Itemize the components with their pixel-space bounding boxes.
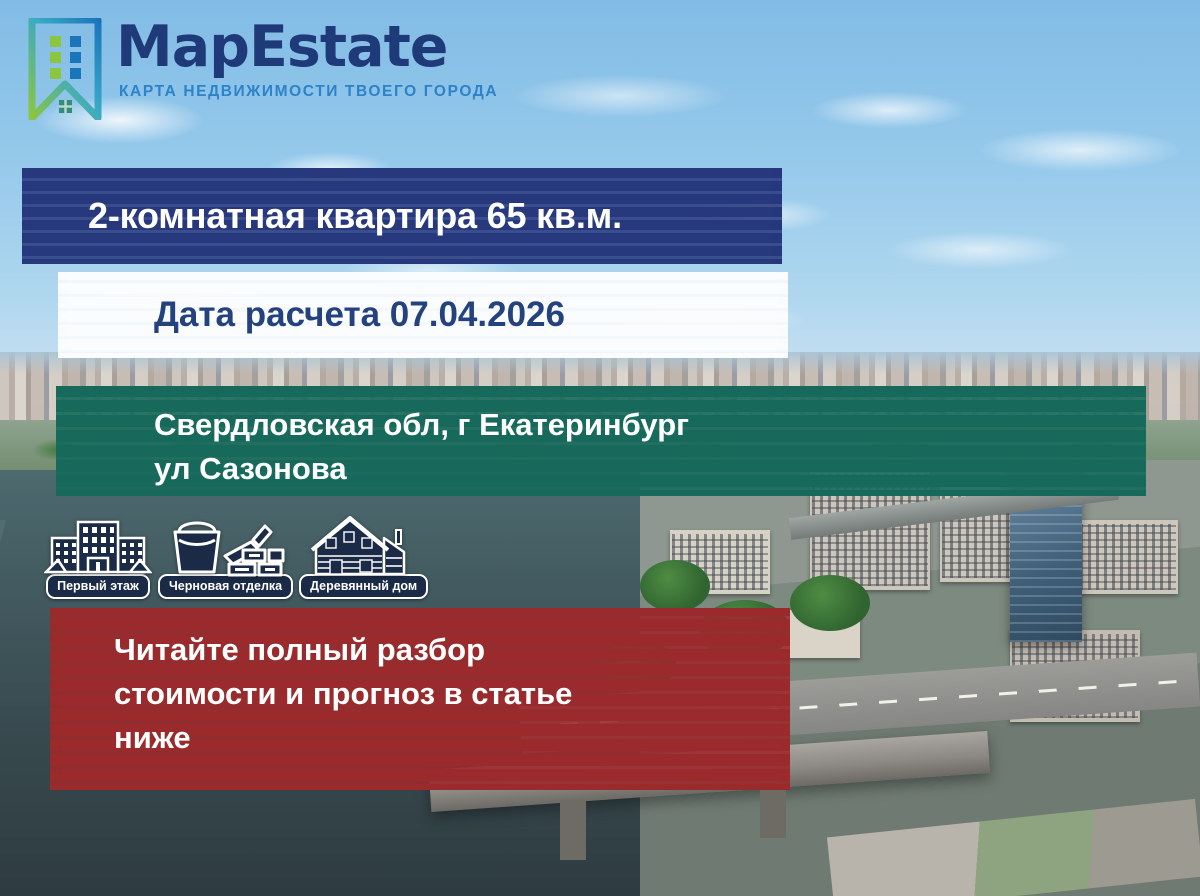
badge-rough-finish[interactable]: Черновая отделка: [158, 516, 293, 599]
cta-text: Читайте полный разбор стоимости и прогно…: [50, 608, 572, 760]
badge-wooden-house[interactable]: Деревянный дом: [299, 516, 428, 599]
address-text: Свердловская обл, г Екатеринбург ул Сазо…: [56, 386, 689, 491]
paint-bucket-trowel-bricks-icon: [167, 516, 285, 580]
bridge-pier: [760, 790, 786, 838]
cta-banner[interactable]: Читайте полный разбор стоимости и прогно…: [50, 608, 790, 790]
bookmark-building-icon: [28, 18, 102, 120]
address-line-street: ул Сазонова: [154, 447, 689, 491]
brand-logo[interactable]: MapEstate КАРТА НЕДВИЖИМОСТИ ТВОЕГО ГОРО…: [28, 18, 498, 120]
wooden-house-icon: [308, 516, 420, 580]
calculation-date-text: Дата расчета 07.04.2026: [58, 295, 565, 335]
tree-cluster: [640, 560, 710, 612]
brand-tagline: КАРТА НЕДВИЖИМОСТИ ТВОЕГО ГОРОДА: [119, 83, 498, 101]
cta-line-1: Читайте полный разбор: [114, 628, 572, 672]
address-banner: Свердловская обл, г Екатеринбург ул Сазо…: [56, 386, 1146, 496]
property-title-text: 2-комнатная квартира 65 кв.м.: [22, 195, 622, 237]
bridge-pier: [560, 800, 586, 860]
property-title-banner: 2-комнатная квартира 65 кв.м.: [22, 168, 782, 264]
calculation-date-banner: Дата расчета 07.04.2026: [58, 272, 788, 358]
apartment-building-icon: [44, 516, 152, 580]
cta-line-3: ниже: [114, 716, 572, 760]
address-line-region-city: Свердловская обл, г Екатеринбург: [154, 403, 689, 447]
tree-cluster: [790, 575, 870, 631]
cta-line-2: стоимости и прогноз в статье: [114, 672, 572, 716]
badge-first-floor[interactable]: Первый этаж: [44, 516, 152, 599]
poster-canvas: MapEstate КАРТА НЕДВИЖИМОСТИ ТВОЕГО ГОРО…: [0, 0, 1200, 896]
brand-wordmark: MapEstate: [116, 20, 498, 76]
feature-badge-row: Первый этаж: [44, 516, 428, 599]
